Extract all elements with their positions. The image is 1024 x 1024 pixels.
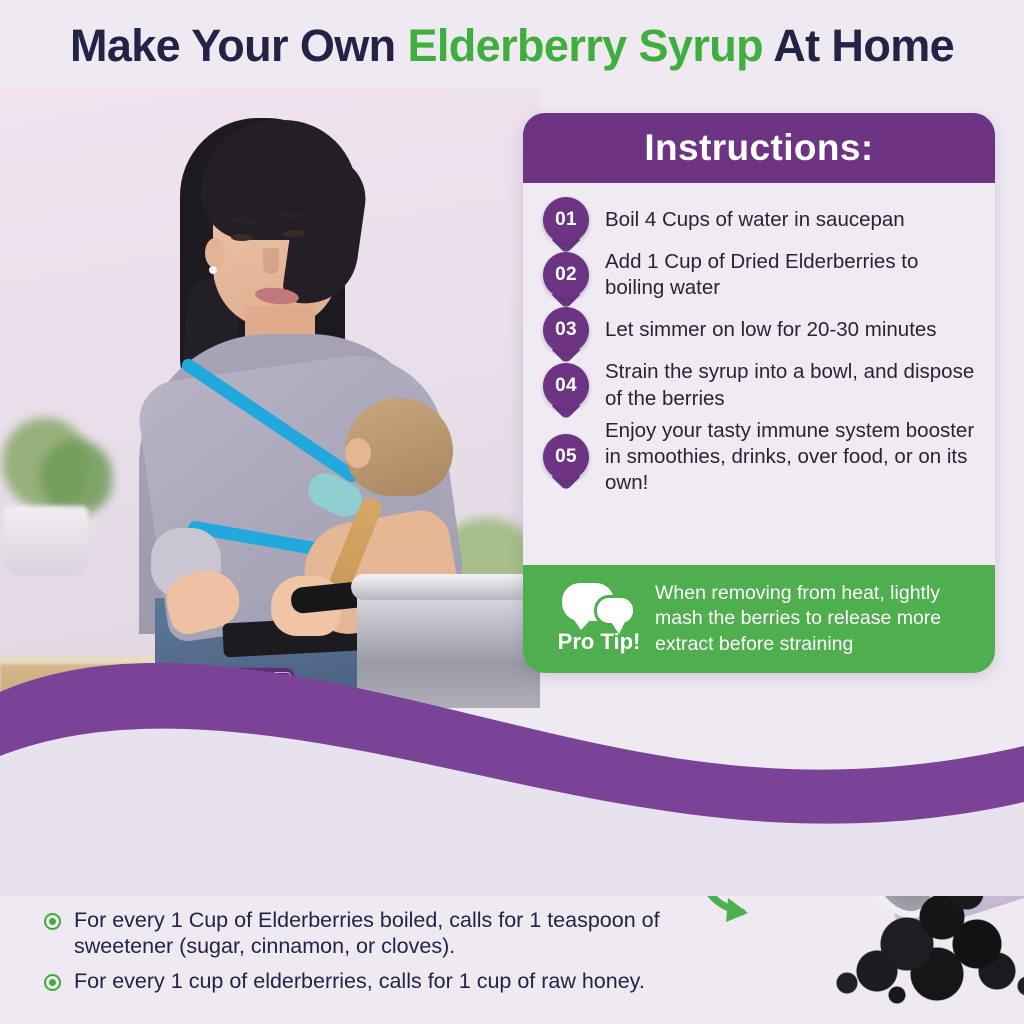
step-number-badge: 03 — [543, 307, 589, 353]
page-title-bar: Make Your Own Elderberry Syrup At Home — [0, 0, 1024, 92]
page-title: Make Your Own Elderberry Syrup At Home — [70, 20, 954, 72]
baby-ear — [345, 438, 371, 468]
step-number: 04 — [543, 363, 589, 409]
step-text: Enjoy your tasty immune system booster i… — [605, 418, 977, 497]
step-number: 01 — [543, 197, 589, 243]
step-number-badge: 05 — [543, 434, 589, 480]
step-number: 05 — [543, 434, 589, 480]
plant-pot-decor — [4, 506, 88, 576]
pro-tip-text: When removing from heat, lightly mash th… — [655, 581, 979, 657]
pro-tip-left: Pro Tip! — [543, 583, 655, 655]
speech-bubble-small — [594, 595, 636, 626]
instruction-step: 01 Boil 4 Cups of water in saucepan — [543, 197, 977, 243]
instructions-panel: Instructions: 01 Boil 4 Cups of water in… — [523, 113, 995, 673]
instruction-step: 04 Strain the syrup into a bowl, and dis… — [543, 359, 977, 411]
pro-tip-banner: Pro Tip! When removing from heat, lightl… — [523, 565, 995, 673]
list-item: For every 1 cup of elderberries, calls f… — [44, 969, 744, 995]
list-item-text: For every 1 Cup of Elderberries boiled, … — [74, 908, 744, 960]
instructions-header: Instructions: — [523, 113, 995, 183]
radio-bullet-icon — [44, 974, 61, 991]
step-text: Add 1 Cup of Dried Elderberries to boili… — [605, 249, 977, 301]
step-text: Boil 4 Cups of water in saucepan — [605, 207, 905, 233]
instruction-step: 02 Add 1 Cup of Dried Elderberries to bo… — [543, 249, 977, 301]
ear — [205, 238, 225, 268]
step-number-badge: 02 — [543, 252, 589, 298]
instruction-step: 05 Enjoy your tasty immune system booste… — [543, 418, 977, 497]
infographic-page: Make Your Own Elderberry Syrup At Home — [0, 0, 1024, 1024]
earring — [209, 266, 217, 274]
step-text: Let simmer on low for 20-30 minutes — [605, 317, 937, 343]
step-text: Strain the syrup into a bowl, and dispos… — [605, 359, 977, 411]
instructions-title: Instructions: — [644, 127, 873, 169]
eye — [231, 234, 253, 241]
instruction-step: 03 Let simmer on low for 20-30 minutes — [543, 307, 977, 353]
nose — [263, 248, 279, 274]
title-prefix: Make Your Own — [70, 20, 408, 71]
radio-bullet-icon — [44, 913, 61, 930]
title-suffix: At Home — [763, 20, 954, 71]
speech-bubbles-icon — [562, 583, 636, 627]
step-number-badge: 01 — [543, 197, 589, 243]
title-accent: Elderberry Syrup — [407, 20, 763, 71]
pro-tip-label: Pro Tip! — [558, 629, 641, 655]
list-item-text: For every 1 cup of elderberries, calls f… — [74, 969, 645, 995]
list-item: For every 1 Cup of Elderberries boiled, … — [44, 908, 744, 960]
eye — [283, 230, 305, 237]
step-number: 02 — [543, 252, 589, 298]
instructions-steps-list: 01 Boil 4 Cups of water in saucepan 02 A… — [523, 183, 995, 565]
step-number-badge: 04 — [543, 363, 589, 409]
step-number: 03 — [543, 307, 589, 353]
